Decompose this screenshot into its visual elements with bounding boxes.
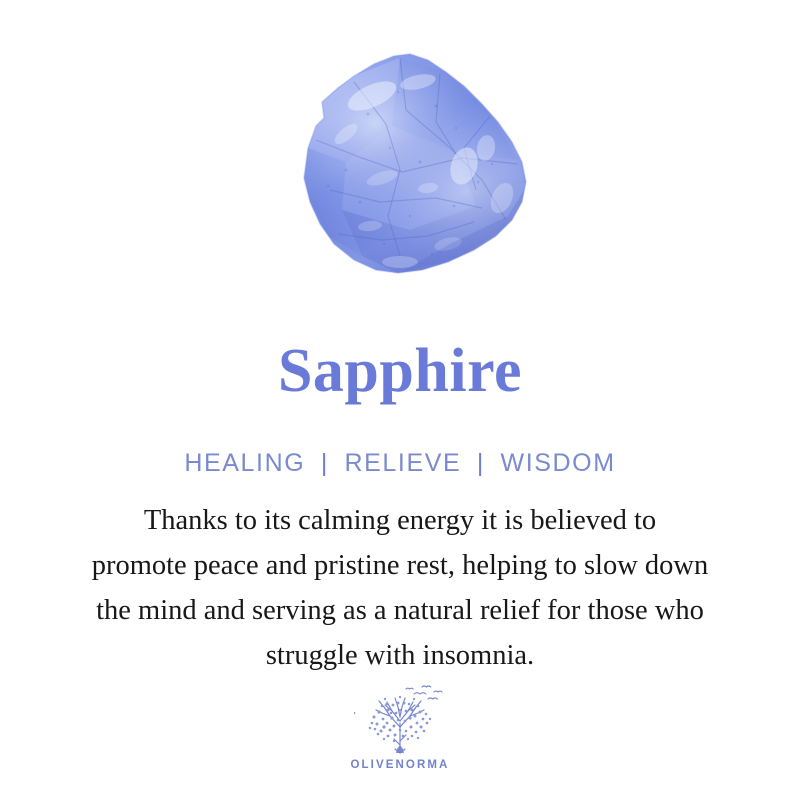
keyword-separator: | <box>314 449 336 477</box>
description-line: Thanks to its calming energy it is belie… <box>28 498 772 543</box>
gem-facet <box>306 148 362 256</box>
description-line: promote peace and pristine rest, helping… <box>28 543 772 588</box>
gem-body <box>250 30 550 290</box>
gem-highlights <box>331 71 517 268</box>
keyword-relieve: RELIEVE <box>345 449 462 477</box>
keyword-wisdom: WISDOM <box>501 449 616 477</box>
tree-trunk <box>396 745 404 753</box>
gem-facet <box>396 58 518 160</box>
gem-facet <box>308 58 400 162</box>
gem-shadow <box>370 170 550 290</box>
description-line: struggle with insomnia. <box>28 633 772 678</box>
description-text: Thanks to its calming energy it is belie… <box>28 498 772 678</box>
gem-facet <box>456 152 526 226</box>
gem-outline <box>304 54 526 273</box>
gem-facet <box>342 126 476 230</box>
gem-facet <box>342 206 508 273</box>
brand-wordmark: OLIVENORMA <box>351 759 450 771</box>
page-title: Sapphire <box>0 336 800 406</box>
gem-texture <box>327 91 493 256</box>
sapphire-crystal-image <box>0 0 800 320</box>
birds-icon <box>406 686 442 699</box>
gem-fractures <box>316 58 518 256</box>
brand-logo: OLIVENORMA <box>0 683 800 771</box>
description-line: the mind and serving as a natural relief… <box>28 588 772 633</box>
keyword-list: HEALING | RELIEVE | WISDOM <box>0 447 800 479</box>
keyword-separator: | <box>470 449 492 477</box>
keyword-healing: HEALING <box>184 449 305 477</box>
tree-with-birds-icon <box>354 683 446 757</box>
sapphire-info-card: Sapphire HEALING | RELIEVE | WISDOM Than… <box>0 0 800 800</box>
sapphire-crystal-svg <box>250 30 550 290</box>
